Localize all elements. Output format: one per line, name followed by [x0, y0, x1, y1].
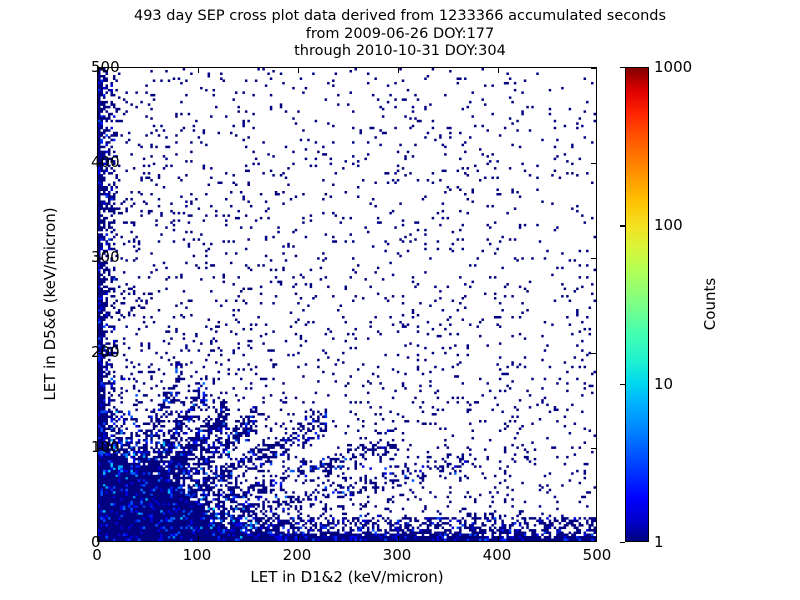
- y-tick-mark: [591, 353, 596, 354]
- x-tick-mark: [498, 68, 499, 73]
- x-tick-mark: [398, 536, 399, 541]
- x-tick-mark: [298, 68, 299, 73]
- x-tick-mark: [298, 536, 299, 541]
- colorbar-tick-mark: [620, 542, 625, 543]
- y-tick-label: 0: [91, 533, 101, 551]
- x-tick-mark: [398, 68, 399, 73]
- y-tick-mark: [591, 448, 596, 449]
- x-tick-label: 100: [183, 546, 212, 564]
- plot-title: 493 day SEP cross plot data derived from…: [0, 8, 800, 61]
- colorbar-label: Counts: [701, 184, 719, 424]
- colorbar-gradient: [625, 67, 649, 542]
- figure-canvas: 493 day SEP cross plot data derived from…: [0, 0, 800, 600]
- x-tick-label: 200: [283, 546, 312, 564]
- colorbar-tick-label: 1000: [654, 58, 692, 76]
- x-tick-mark: [198, 68, 199, 73]
- x-tick-label: 500: [583, 546, 612, 564]
- colorbar: [625, 67, 649, 542]
- y-tick-mark: [591, 258, 596, 259]
- scatter-density-layer: [98, 68, 596, 541]
- x-axis-label: LET in D1&2 (keV/micron): [97, 568, 597, 586]
- colorbar-tick-mark: [620, 67, 625, 68]
- plot-title-line-1: 493 day SEP cross plot data derived from…: [0, 8, 800, 26]
- colorbar-tick-label: 1: [654, 533, 664, 551]
- colorbar-tick-label: 100: [654, 216, 683, 234]
- y-tick-label: 300: [91, 248, 120, 266]
- colorbar-tick-label: 10: [654, 375, 673, 393]
- colorbar-tick-mark: [620, 384, 625, 385]
- x-tick-label: 400: [483, 546, 512, 564]
- x-tick-mark: [198, 536, 199, 541]
- y-axis-label: LET in D5&6 (keV/micron): [41, 104, 59, 504]
- y-tick-mark: [591, 68, 596, 69]
- x-tick-mark: [498, 536, 499, 541]
- y-tick-label: 100: [91, 438, 120, 456]
- y-tick-label: 500: [91, 58, 120, 76]
- y-tick-label: 200: [91, 343, 120, 361]
- colorbar-tick-mark: [620, 225, 625, 226]
- x-tick-label: 300: [383, 546, 412, 564]
- y-tick-mark: [591, 163, 596, 164]
- y-tick-label: 400: [91, 153, 120, 171]
- plot-axes: [97, 67, 597, 542]
- plot-title-line-2: from 2009-06-26 DOY:177: [0, 26, 800, 44]
